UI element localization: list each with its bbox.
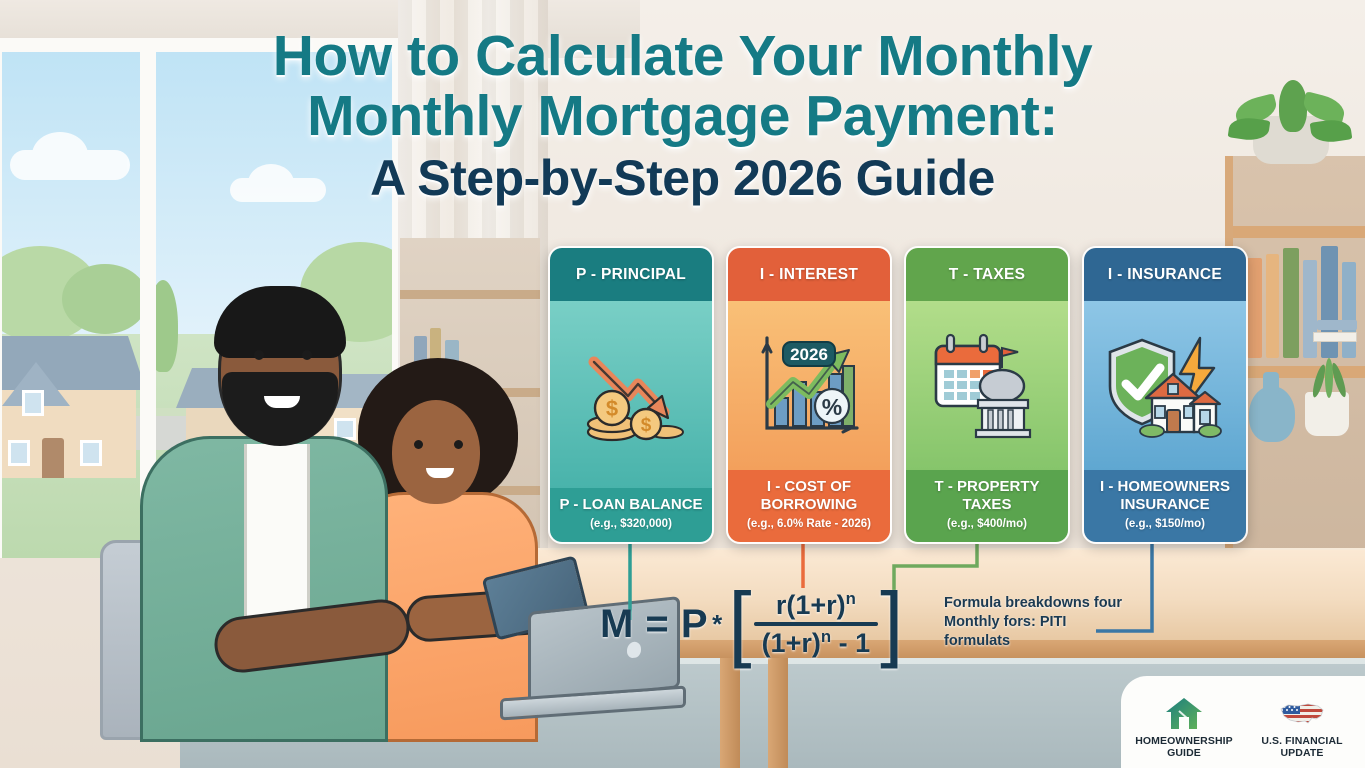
infographic-canvas: How to Calculate Your Monthly Monthly Mo…: [0, 0, 1365, 768]
woman-eye: [414, 440, 423, 449]
usa-flag-map-icon: [1250, 691, 1354, 731]
badge-homeownership-guide[interactable]: HOMEOWNERSHIP GUIDE: [1132, 691, 1236, 759]
desk-leg: [768, 658, 788, 768]
card-interest-header: I - INTEREST: [728, 248, 890, 301]
card-insurance[interactable]: I - INSURANCE: [1082, 246, 1248, 544]
card-principal-header: P - PRINCIPAL: [550, 248, 712, 301]
card-principal-footer: P - LOAN BALANCE (e.g., $320,000): [550, 488, 712, 542]
formula-note: Formula breakdowns four Monthly fors: PI…: [944, 594, 1126, 651]
card-interest-foot-sub: (e.g., 6.0% Rate - 2026): [734, 518, 884, 530]
shield-house-lightning-icon: [1084, 301, 1246, 470]
title-line-1: How to Calculate Your Monthly: [0, 26, 1365, 86]
card-principal[interactable]: P - PRINCIPAL $ $ P - LOAN BALANCE (e: [548, 246, 714, 544]
card-insurance-header: I - INSURANCE: [1084, 248, 1246, 301]
badge-financial-label: U.S. FINANCIAL UPDATE: [1250, 735, 1354, 759]
house-icon: [1132, 691, 1236, 731]
coins-down-arrow-icon: $ $: [550, 301, 712, 488]
title-line-3: A Step-by-Step 2026 Guide: [0, 146, 1365, 210]
formula-multiply-sign: *: [712, 609, 722, 640]
title-line-2: Monthly Mortgage Payment:: [0, 86, 1365, 146]
card-insurance-foot-sub: (e.g., $150/mo): [1090, 518, 1240, 530]
chart-year-badge: 2026: [790, 345, 828, 364]
piti-card-row: P - PRINCIPAL $ $ P - LOAN BALANCE (e: [548, 246, 1248, 544]
card-insurance-footer: I - HOMEOWNERS INSURANCE (e.g., $150/mo): [1084, 470, 1246, 542]
svg-text:$: $: [641, 415, 652, 436]
card-taxes-header: T - TAXES: [906, 248, 1068, 301]
mortgage-formula: M = P * [ r(1+r)n (1+r)n - 1 ]: [600, 588, 903, 660]
badge-homeownership-label: HOMEOWNERSHIP GUIDE: [1132, 735, 1236, 759]
man-eye: [302, 350, 312, 360]
card-insurance-foot-title: I - HOMEOWNERS INSURANCE: [1090, 478, 1240, 514]
calendar-government-building-icon: [906, 301, 1068, 470]
svg-text:$: $: [606, 396, 618, 421]
formula-bracket-close: ]: [880, 594, 903, 650]
man-tshirt: [244, 444, 310, 634]
woman-face: [392, 400, 480, 504]
desk-leg: [720, 658, 740, 768]
formula-lhs: M = P: [600, 602, 708, 647]
card-taxes[interactable]: T - TAXES: [904, 246, 1070, 544]
formula-fraction: r(1+r)n (1+r)n - 1: [754, 588, 879, 660]
formula-numerator: r(1+r)n: [768, 588, 864, 622]
couple-illustration: [96, 272, 526, 742]
card-principal-foot-title: P - LOAN BALANCE: [556, 496, 706, 514]
card-taxes-foot-title: T - PROPERTY TAXES: [912, 478, 1062, 514]
card-taxes-foot-sub: (e.g., $400/mo): [912, 518, 1062, 530]
vase: [1249, 386, 1295, 442]
man-eye: [254, 350, 264, 360]
card-taxes-footer: T - PROPERTY TAXES (e.g., $400/mo): [906, 470, 1068, 542]
small-plant-pot: [1305, 392, 1349, 436]
svg-text:%: %: [822, 394, 842, 420]
page-title: How to Calculate Your Monthly Monthly Mo…: [0, 26, 1365, 210]
card-interest-footer: I - COST OF BORROWING (e.g., 6.0% Rate -…: [728, 470, 890, 542]
man-hair: [214, 286, 346, 358]
formula-denominator: (1+r)n - 1: [754, 626, 879, 660]
man-beard: [222, 372, 338, 446]
woman-eye: [454, 440, 463, 449]
card-interest-foot-title: I - COST OF BORROWING: [734, 478, 884, 514]
card-principal-foot-sub: (e.g., $320,000): [556, 518, 706, 530]
rising-chart-percent-icon: 2026 %: [728, 301, 890, 470]
card-interest[interactable]: I - INTEREST 2026 %: [726, 246, 892, 544]
formula-bracket-open: [: [728, 594, 751, 650]
source-badge-panel: HOMEOWNERSHIP GUIDE: [1121, 676, 1365, 768]
badge-us-financial-update[interactable]: U.S. FINANCIAL UPDATE: [1250, 691, 1354, 759]
